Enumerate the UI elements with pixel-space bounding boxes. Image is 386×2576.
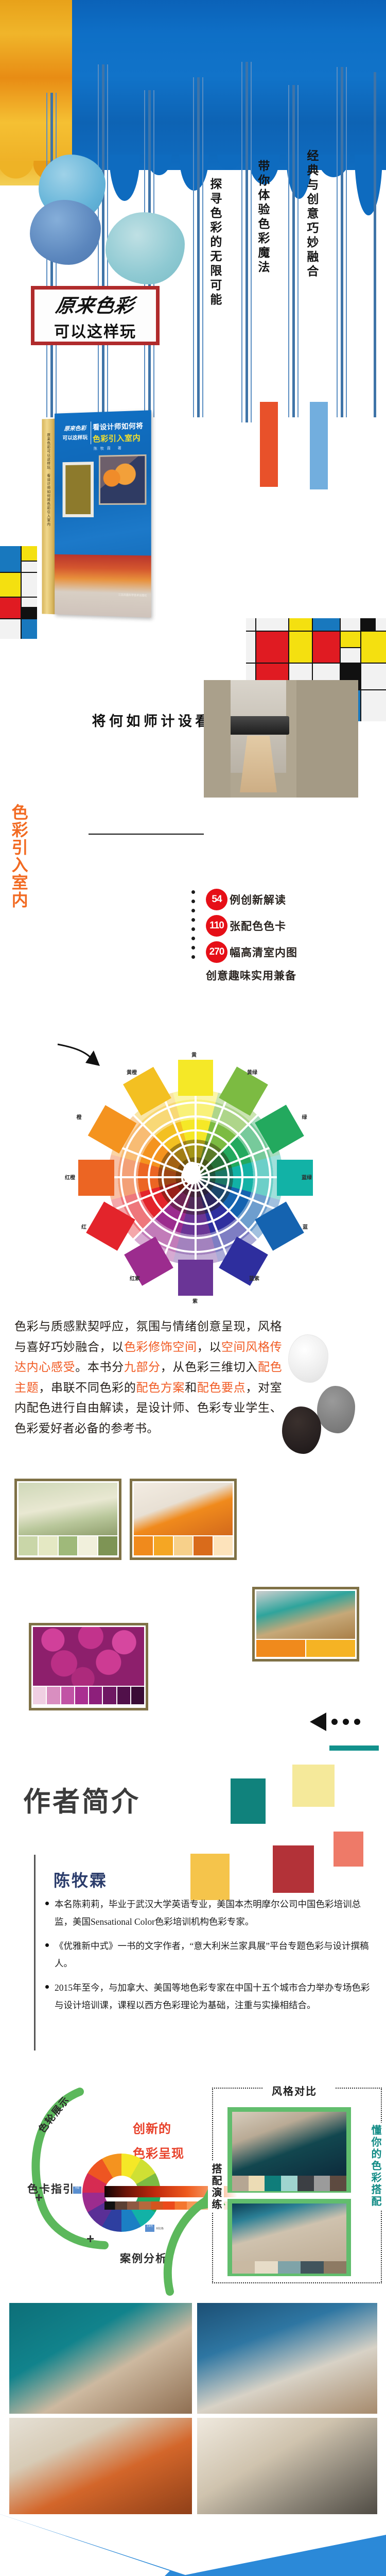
cover-author: 陈牧霖 著 [94,446,125,451]
wheel-chip-yellow [178,1060,213,1096]
confetti-square-gold [190,1854,230,1900]
confetti-square-salmon [334,1832,363,1867]
paint-blob-gray [317,1386,355,1433]
confetti-square-darkred [273,1845,314,1893]
mondrian-block-left [0,546,37,639]
cover-badge-line1: 原来色彩 [61,423,90,433]
wheel-chip-redorange [78,1160,114,1196]
diagram-headline-line1: 创新的 [133,2119,171,2137]
desc-hl: 配色要点 [197,1381,246,1394]
wheel-label-orange: 橙 [74,1114,82,1120]
slogan-explore: 探寻色彩的无限可能 [208,178,221,317]
author-vertical-rule [34,1855,36,2050]
book-description-paragraph: 色彩与质感默契呼应，氛围与情绪创意呈现，风格与喜好巧妙融合，以色彩修饰空间，以空… [14,1316,282,1438]
wheel-label-yellow: 黄 [191,1050,197,1058]
confetti-square-teal [231,1778,266,1824]
wheel-label-yelloworange: 黄橙 [127,1068,137,1076]
paint-blob-steelblue [30,200,101,265]
left-arrow-dots-icon [309,1710,376,1733]
wheel-label-yellowgreen: 黄绿 [247,1068,257,1076]
diagram-plus-bottom: + [86,2231,94,2247]
bio-item: 2015年至今，与加拿大、美国等地色彩专家在中国十五个城市合力举办专场色彩与设计… [45,1979,375,2014]
palette-frame-green-interior [14,1479,121,1560]
book-front-cover: 原来色彩 可以这样玩 看设计师如何将 色彩引入室内 陈牧霖 著 江苏凤凰科学技术… [55,410,151,618]
wheel-label-bluegreen: 蓝绿 [302,1173,312,1181]
bio-item: 《优雅新中式》一书的文字作者，“意大利米兰家具展”平台专题色彩与设计撰稿人。 [45,1938,375,1972]
color-wheel-diagram: 黄 黄绿 绿 蓝绿 蓝 蓝紫 紫 红紫 红 红橙 橙 黄橙 [77,1059,314,1296]
section2-heading-black: 看设计师如何将 [89,714,209,835]
teal-accent-bar [329,1745,379,1751]
author-section-heading: 作者简介 [23,1780,141,1819]
interior-photo-green [19,1483,117,1535]
bio-item: 本名陈莉莉，毕业于武汉大学英语专业，美国本杰明摩尔公司中国色彩培训总监，美国Se… [45,1896,375,1930]
badge-footer-text: 创意趣味实用兼备 [206,968,376,983]
paint-drip-row [72,155,386,216]
palette-swatch-row [256,1640,355,1657]
banner-fold-shape [0,2514,386,2576]
paint-brush-photo [204,680,358,835]
slogan-classic: 经典与创意巧妙融合 [305,149,318,289]
wheel-label-blue: 蓝 [303,1223,308,1230]
wheel-label-redorange: 红橙 [65,1173,75,1181]
palette-swatch-row [19,1536,117,1555]
interior-photo-neutral-room [197,2418,377,2516]
mondrian-bar-orange [260,402,278,487]
desc-hl: 九部分 [124,1361,161,1374]
cover-door-art [63,462,94,517]
diagram-label-your-palette: 懂你的色彩搭配 [367,2123,383,2210]
feature-badge-row: 270 幅高清室内图 [206,941,376,963]
blue-banner-section [0,2514,386,2576]
cover-badge-line2: 可以这样玩 [61,433,90,441]
slogan-magic: 带你体验色彩魔法 [256,160,269,299]
desc-part: ，从色彩三维切入 [161,1361,258,1374]
wheel-chip-purple [178,1260,213,1296]
author-name: 陈牧霖 [54,1868,108,1891]
title-sub-line: 可以这样玩 [54,319,136,342]
desc-hl: 色彩修饰空间 [124,1341,197,1353]
interior-photo-teal-wall [9,2303,192,2414]
book-cover-photo: 原来色彩可以这样玩 看设计师如何将色彩引入室内 原来色彩 可以这样玩 看设计师如… [42,410,151,620]
blue-paint-swash [72,0,386,170]
badge-count-54: 54 [206,889,227,910]
cover-title-line2: 色彩引入室内 [93,432,149,444]
badge-label-54: 例创新解读 [225,892,286,907]
badge-label-270: 幅高清室内图 [225,944,297,960]
section2-heading-orange: 色彩引入室内 [8,804,29,914]
feature-badge-row: 54 例创新解读 [206,889,376,910]
style-compare-photo-bottom [227,2199,351,2276]
desc-part: 和 [185,1381,197,1394]
product-detail-page: 探寻色彩的无限可能 带你体验色彩魔法 经典与创意巧妙融合 原来色彩 可以这样玩 … [0,0,386,2576]
palette-swatch-row [134,1536,233,1555]
cover-title-line1: 看设计师如何将 [93,420,149,432]
curved-arrow-icon [57,1043,103,1079]
mondrian-bar-lightblue [310,402,328,489]
donut-tag-complementary: 互补色 [145,2225,154,2232]
palette-swatch-row [232,2176,346,2191]
desc-hl: 配色方案 [136,1381,185,1394]
wheel-label-red: 红 [81,1223,86,1230]
palette-frame-raspberry [29,1623,148,1710]
paint-blob-teal [106,212,185,284]
desc-part: 。本书分 [75,1361,124,1374]
diagram-label-style-compare: 风格对比 [272,2083,317,2098]
desc-part: ，以 [197,1341,221,1353]
palette-swatch-row [33,1687,144,1704]
main-title-plate: 原来色彩 可以这样玩 [31,286,160,345]
style-compare-photo-top [227,2107,351,2193]
palette-frame-orange-interior [130,1479,237,1560]
wheel-label-purple: 紫 [192,1297,198,1304]
cover-divider [91,421,91,444]
palette-swatch-row [232,2261,346,2274]
raspberry-photo [33,1627,144,1686]
author-bio-list: 本名陈莉莉，毕业于武汉大学英语专业，美国本杰明摩尔公司中国色彩培训总监，美国Se… [45,1896,375,2022]
cover-painting-art [99,454,147,505]
cover-main-title: 看设计师如何将 色彩引入室内 [93,420,149,444]
decorative-dot-column [191,890,195,964]
badge-count-270: 270 [206,941,227,963]
interior-photo-blue-room [197,2303,377,2414]
feature-badge-row: 110 张配色色卡 [206,915,376,937]
desc-part: ，串联不同色彩的 [39,1381,136,1394]
palette-frame-teal-room [252,1587,359,1662]
wheel-label-bluepurple: 蓝紫 [249,1274,259,1282]
wheel-label-green: 绿 [300,1114,307,1120]
book-spine: 原来色彩可以这样玩 看设计师如何将色彩引入室内 [42,419,55,615]
interior-photo-beige [232,2204,346,2261]
color-wheel-center [183,1162,201,1184]
diagram-label-swatch-guide: 色卡指引 [27,2181,75,2196]
feature-badge-list: 54 例创新解读 110 张配色色卡 270 幅高清室内图 创意趣味实用兼备 [206,889,376,983]
book-spine-text: 原来色彩可以这样玩 看设计师如何将色彩引入室内 [46,433,51,526]
paint-blob-white [288,1334,328,1383]
interior-photo-navy [232,2112,346,2176]
badge-count-110: 110 [206,915,227,937]
badge-label-110: 张配色色卡 [225,918,286,934]
cover-badge: 原来色彩 可以这样玩 [61,423,90,441]
interior-photo-teal [256,1591,355,1639]
confetti-square-paleyellow [292,1765,335,1807]
cover-sofa-art [55,554,151,618]
wheel-label-redpurple: 红紫 [130,1274,140,1282]
title-script-line: 原来色彩 [54,290,137,318]
interior-photo-orange-room [9,2418,192,2516]
diagram-label-matching-drill: 搭配演练 [208,2161,224,2213]
cover-publisher: 江苏凤凰科学技术出版社 [118,593,147,598]
interior-photo-orange [134,1483,233,1535]
paint-blob-black [282,1406,321,1454]
